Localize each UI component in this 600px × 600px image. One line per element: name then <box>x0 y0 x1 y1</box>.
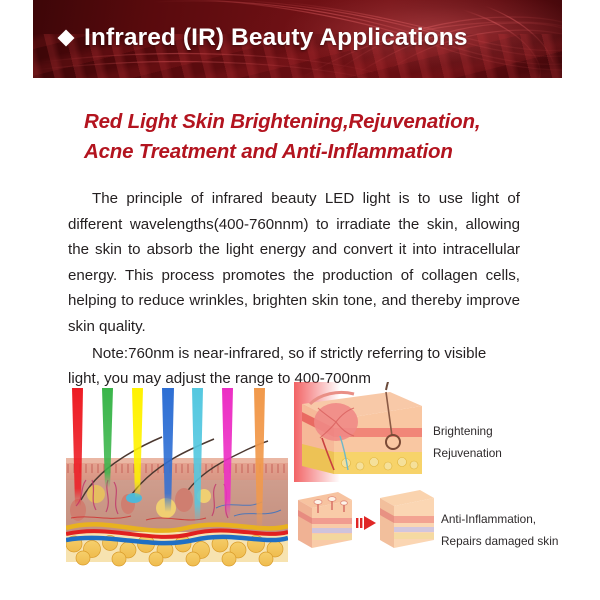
healthy-skin-block <box>380 490 434 548</box>
skin-cross-section <box>66 437 288 566</box>
brightening-labels: Brightening Rejuvenation <box>433 420 502 464</box>
label-rejuvenation: Rejuvenation <box>433 442 502 464</box>
label-anti-inflammation: Anti-Inflammation, <box>441 508 558 530</box>
banner-title-text: Infrared (IR) Beauty Applications <box>84 24 468 52</box>
anti-inflammation-before-after-illustration <box>294 486 434 564</box>
anti-inflammation-labels: Anti-Inflammation, Repairs damaged skin <box>441 508 558 552</box>
label-repairs-damaged-skin: Repairs damaged skin <box>441 530 558 552</box>
label-brightening: Brightening <box>433 420 502 442</box>
page-title-line-2: Acne Treatment and Anti-Inflammation <box>84 137 534 167</box>
damaged-skin-block <box>298 492 352 548</box>
page-title-line-1: Red Light Skin Brightening,Rejuvenation, <box>84 107 534 137</box>
brightening-rejuvenation-illustration <box>294 382 426 482</box>
skin-light-penetration-diagram <box>66 388 288 568</box>
transform-arrow-icon <box>356 516 376 530</box>
page-title: Red Light Skin Brightening,Rejuvenation,… <box>84 107 534 167</box>
illustration-strip: Brightening Rejuvenation Anti-Inflammati… <box>0 382 600 587</box>
body-copy: The principle of infrared beauty LED lig… <box>68 186 520 392</box>
paragraph-principle: The principle of infrared beauty LED lig… <box>68 186 520 340</box>
header-banner: Infrared (IR) Beauty Applications <box>33 0 562 78</box>
banner-title-group: Infrared (IR) Beauty Applications <box>60 24 468 52</box>
diamond-icon <box>58 30 75 47</box>
